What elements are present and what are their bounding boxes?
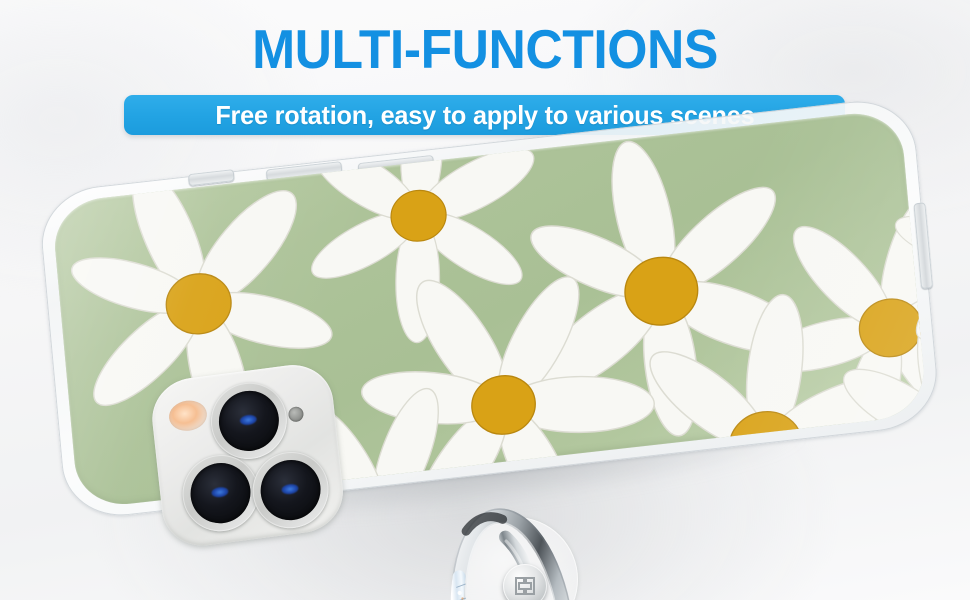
product-banner-stage: MULTI-FUNCTIONS Free rotation, easy to a… xyxy=(0,0,970,600)
lidar-sensor-icon xyxy=(288,406,305,423)
product-photo xyxy=(48,175,928,545)
camera-flash-icon xyxy=(168,398,209,433)
camera-lens-icon xyxy=(179,450,263,535)
brand-logo-button[interactable] xyxy=(503,564,547,600)
ring-holder[interactable] xyxy=(445,507,615,600)
camera-lens-icon xyxy=(249,447,333,532)
camera-module xyxy=(148,360,347,550)
camera-lens-icon xyxy=(207,378,291,463)
brand-logo-icon xyxy=(513,575,537,597)
page-title: MULTI-FUNCTIONS xyxy=(29,22,941,77)
